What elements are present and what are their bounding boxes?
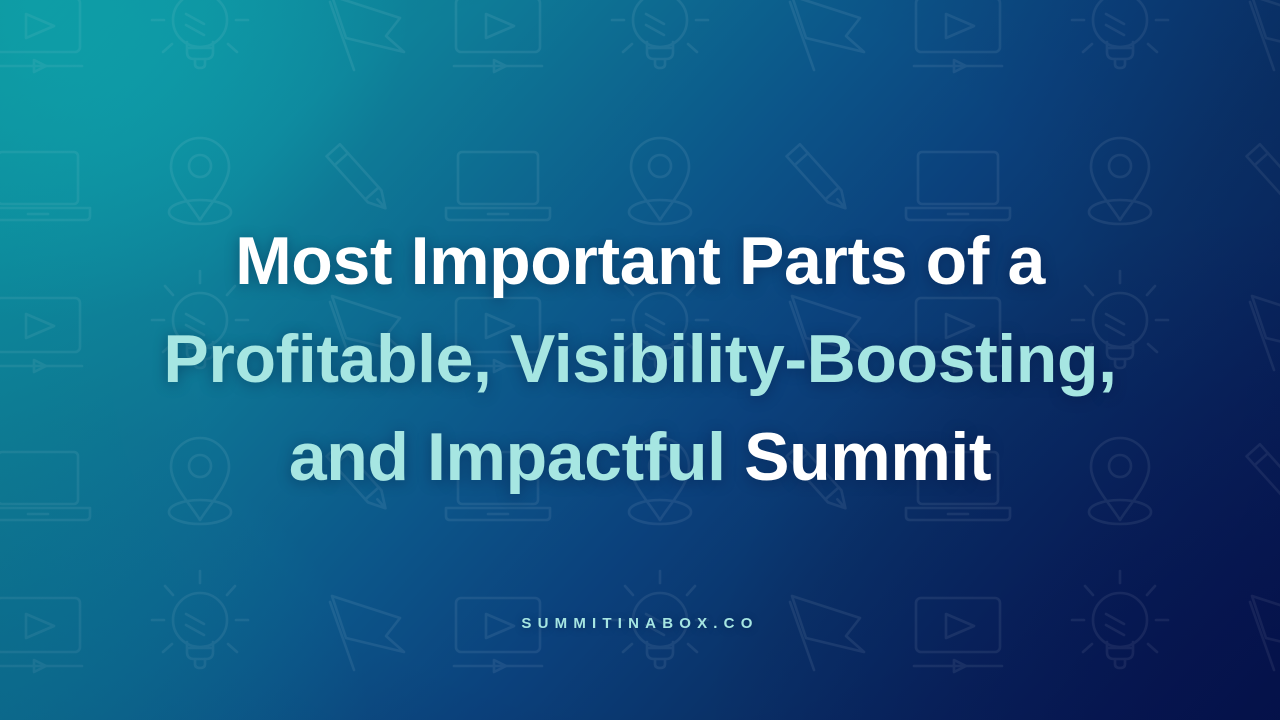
headline-line-2-text: Profitable, Visibility-Boosting, (163, 321, 1116, 397)
headline-line-1-text: Most Important Parts of a (235, 223, 1045, 299)
headline-line-2: Profitable, Visibility-Boosting, (40, 311, 1240, 409)
headline-line-3-plain: Summit (744, 419, 991, 495)
footer: SUMMITINABOX.CO (0, 615, 1280, 632)
website-url: SUMMITINABOX.CO (521, 615, 758, 632)
headline-line-1: Most Important Parts of a (40, 213, 1240, 311)
graphic-content: Most Important Parts of a Profitable, Vi… (0, 0, 1280, 720)
headline-line-3-accent: and Impactful (289, 419, 744, 495)
page-title: Most Important Parts of a Profitable, Vi… (0, 213, 1280, 507)
headline-line-3: and Impactful Summit (40, 409, 1240, 507)
social-graphic-canvas: Most Important Parts of a Profitable, Vi… (0, 0, 1280, 720)
